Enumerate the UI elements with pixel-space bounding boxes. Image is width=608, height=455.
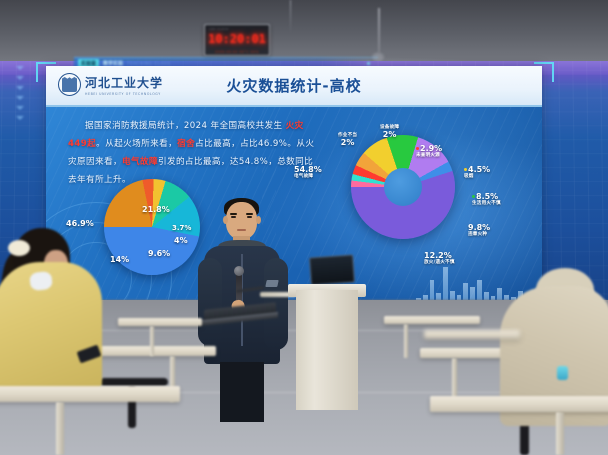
podium-column	[296, 290, 358, 410]
donut-label-2: 9.8% 违章火种	[468, 223, 490, 237]
presenter-ear-right	[256, 216, 261, 224]
desk-foreground-right	[430, 396, 608, 412]
presenter-ear-left	[223, 216, 228, 224]
presentation-slide: 河北工业大学 HEBEI UNIVERSITY OF TECHNOLOGY 火灾…	[46, 66, 542, 308]
donut-label-0: 54.8% 电气故障	[294, 165, 322, 179]
clock-brand-label: LED CLOCK	[209, 27, 229, 31]
desk-left-far-leg	[150, 326, 154, 356]
slide-body: 据国家消防救援局统计，2024 年全国高校共发生 火灾449起。从起火场所来看，…	[46, 107, 542, 308]
pie-label-4: 4%	[174, 236, 188, 245]
donut-label-5-name: 未查明火源	[416, 152, 442, 158]
presenter-head	[226, 202, 257, 239]
presenter-brow-left	[230, 213, 237, 215]
podium-monitor	[309, 254, 355, 285]
presenter-brow-right	[246, 213, 253, 215]
pie-label-0: 46.9%	[66, 219, 94, 228]
student-left-hair-tie	[8, 240, 30, 256]
clock-subline: 20XX-XX-XX XX°C XX%	[205, 50, 269, 54]
presenter-mouth	[237, 229, 246, 231]
student-right-water-bottle	[557, 366, 568, 380]
desk-right-upper	[424, 330, 520, 339]
pie-label-1: 21.8%	[142, 205, 170, 214]
ceiling-wire	[290, 0, 291, 34]
donut-label-6-pct: 2%	[380, 130, 399, 139]
para-highlight-2: 宿舍	[177, 139, 195, 149]
desk-foreground-left-leg	[56, 402, 64, 455]
presenter	[196, 196, 288, 364]
slide-title: 火灾数据统计-高校	[46, 75, 542, 96]
donut-label-3-name: 生活用火不慎	[472, 200, 501, 206]
donut-label-7-pct: 2%	[338, 138, 357, 147]
banner-dot-right-icon	[367, 62, 370, 65]
led-clock: LED CLOCK 10:20:01 20XX-XX-XX XX°C XX%	[204, 24, 270, 56]
donut-label-2-name: 违章火种	[468, 231, 490, 237]
desk-right-far	[384, 316, 480, 324]
presenter-legs	[220, 362, 264, 422]
presenter-eye-right	[247, 216, 252, 218]
donut-label-6: 设备故障 2%	[380, 125, 399, 139]
clock-time: 10:20:01	[205, 32, 269, 46]
pie-label-3: 9.6%	[148, 249, 170, 258]
desk-left-far	[118, 318, 202, 326]
presenter-eye-left	[231, 216, 236, 218]
donut-label-7: 作业不当 2%	[338, 133, 357, 147]
donut-label-4: 4.5% 吸烟	[464, 165, 490, 179]
donut-label-5: 2.9% 未查明火源	[416, 144, 442, 158]
pie-label-2: 14%	[110, 255, 129, 264]
chair-left-back	[100, 378, 168, 386]
classroom-scene: LED CLOCK 10:20:01 20XX-XX-XX XX°C XX% 实…	[0, 0, 608, 455]
presenter-jacket-logo	[265, 280, 278, 287]
ceiling-rod	[378, 8, 380, 56]
presenter-arm-left	[198, 258, 222, 346]
para-seg-1: 据国家消防救援局统计，2024 年全国高校共发生	[85, 121, 286, 131]
desk-left-mid	[96, 346, 216, 356]
pie-label-5: 3.7%	[172, 224, 191, 232]
donut-label-3: 8.5% 生活用火不慎	[472, 192, 501, 206]
para-highlight-3: 电气故障	[122, 157, 158, 167]
desk-right-far-leg	[404, 324, 408, 358]
para-seg-2: 。从起火场所来看，	[96, 139, 177, 149]
desk-foreground-right-leg	[556, 412, 564, 455]
desk-foreground-left	[0, 386, 180, 402]
slide-paragraph: 据国家消防救援局统计，2024 年全国高校共发生 火灾449起。从起火场所来看，…	[68, 117, 318, 189]
